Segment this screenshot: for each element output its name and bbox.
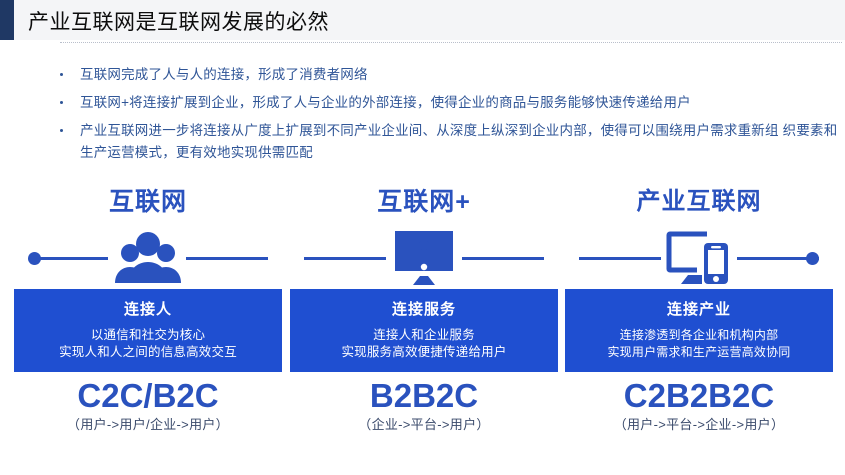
connector-line-right <box>462 257 544 260</box>
model-code: C2B2B2C <box>565 376 833 416</box>
desktop-monitor-user-icon <box>393 227 455 289</box>
list-item-text: 产业互联网进一步将连接从广度上扩展到不同产业企业间、从深度上纵深到企业内部，使得… <box>80 123 837 160</box>
column-internet-plus: 互联网+ 连接服务 连接人和企业服务 <box>290 185 558 433</box>
info-box-line: 连接人和企业服务 <box>298 327 550 344</box>
info-box-line: 连接渗透到各企业和机构内部 <box>573 327 825 344</box>
bullet-dot-icon <box>60 101 63 104</box>
monitor-and-phone-icon <box>664 227 734 289</box>
info-box-title: 连接人 <box>22 298 274 319</box>
column-heading: 产业互联网 <box>565 185 833 221</box>
info-box-title: 连接产业 <box>573 298 825 319</box>
bullet-dot-icon <box>60 73 63 76</box>
connector-endpoint-icon <box>806 252 819 265</box>
model-caption: （企业->平台->用户） <box>290 414 558 433</box>
info-box: 连接服务 连接人和企业服务 实现服务高效便捷传递给用户 <box>290 289 558 372</box>
slide-canvas: 产业互联网是互联网发展的必然 互联网完成了人与人的连接，形成了消费者网络 互联网… <box>0 0 845 475</box>
model-caption: （用户->用户/企业->用户） <box>14 414 282 433</box>
model-code: B2B2C <box>290 376 558 416</box>
column-industrial-internet: 产业互联网 <box>565 185 833 433</box>
list-item: 互联网+将连接扩展到企业，形成了人与企业的外部连接，使得企业的商品与服务能够快速… <box>54 92 844 114</box>
column-internet: 互联网 连接人 以通信和社交为核心 <box>14 185 282 433</box>
list-item-text: 互联网完成了人与人的连接，形成了消费者网络 <box>80 67 368 82</box>
connector-line-left <box>579 257 661 260</box>
info-box: 连接产业 连接渗透到各企业和机构内部 实现用户需求和生产运营高效协同 <box>565 289 833 372</box>
list-item: 互联网完成了人与人的连接，形成了消费者网络 <box>54 64 844 86</box>
info-box-line: 以通信和社交为核心 <box>22 327 274 344</box>
people-group-icon <box>109 227 187 289</box>
model-caption: （用户->平台->企业->用户） <box>565 414 833 433</box>
connector-line-left <box>34 257 108 260</box>
info-box-line: 实现用户需求和生产运营高效协同 <box>573 344 825 361</box>
info-box-title: 连接服务 <box>298 298 550 319</box>
icon-row <box>14 227 282 289</box>
column-heading: 互联网 <box>14 185 282 221</box>
bullet-list: 互联网完成了人与人的连接，形成了消费者网络 互联网+将连接扩展到企业，形成了人与… <box>54 64 844 170</box>
info-box-line: 实现服务高效便捷传递给用户 <box>298 344 550 361</box>
info-box: 连接人 以通信和社交为核心 实现人和人之间的信息高效交互 <box>14 289 282 372</box>
icon-row <box>565 227 833 289</box>
title-divider <box>60 42 842 43</box>
info-box-line: 实现人和人之间的信息高效交互 <box>22 344 274 361</box>
list-item: 产业互联网进一步将连接从广度上扩展到不同产业企业间、从深度上纵深到企业内部，使得… <box>54 120 844 164</box>
connector-line-left <box>304 257 386 260</box>
connector-line-right <box>186 257 268 260</box>
model-code: C2C/B2C <box>14 376 282 416</box>
title-bar: 产业互联网是互联网发展的必然 <box>0 0 845 40</box>
list-item-text: 互联网+将连接扩展到企业，形成了人与企业的外部连接，使得企业的商品与服务能够快速… <box>80 95 691 110</box>
bullet-dot-icon <box>60 129 63 132</box>
icon-row <box>290 227 558 289</box>
column-heading: 互联网+ <box>290 185 558 221</box>
title-accent-bar <box>0 0 14 40</box>
page-title: 产业互联网是互联网发展的必然 <box>28 6 329 36</box>
